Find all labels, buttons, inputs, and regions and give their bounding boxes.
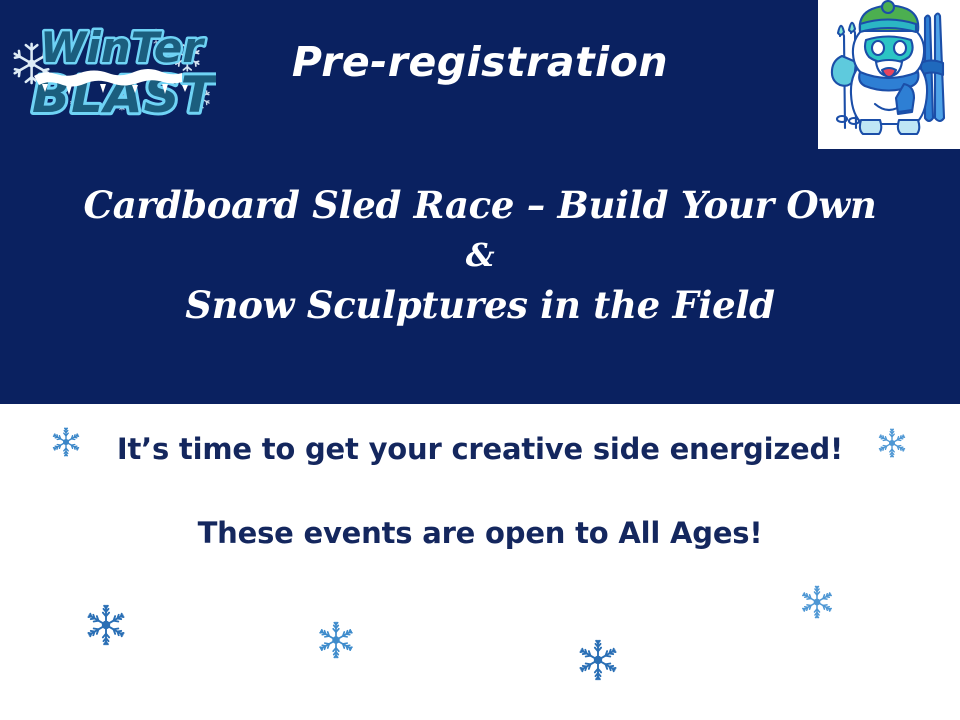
slide-canvas: WinTer BLAST Pre-registration bbox=[0, 0, 960, 720]
snowflake-right-upper bbox=[877, 428, 907, 458]
heading-line-2: Snow Sculptures in the Field bbox=[0, 280, 960, 330]
snowflake-left-lower bbox=[85, 604, 127, 646]
snowflake-center-low bbox=[577, 639, 619, 681]
body-line-all-ages: These events are open to All Ages! bbox=[0, 516, 960, 550]
snowflake-left-upper bbox=[51, 427, 81, 457]
page-title: Pre-registration bbox=[0, 38, 960, 86]
event-heading: Cardboard Sled Race – Build Your Own & S… bbox=[0, 180, 960, 330]
heading-line-ampersand: & bbox=[0, 230, 960, 280]
yeti-mascot-image bbox=[818, 0, 960, 149]
body-line-creative: It’s time to get your creative side ener… bbox=[0, 432, 960, 466]
snowflake-right-lower bbox=[800, 585, 834, 619]
snowflake-mid-lower bbox=[317, 621, 355, 659]
heading-line-1: Cardboard Sled Race – Build Your Own bbox=[0, 180, 960, 230]
